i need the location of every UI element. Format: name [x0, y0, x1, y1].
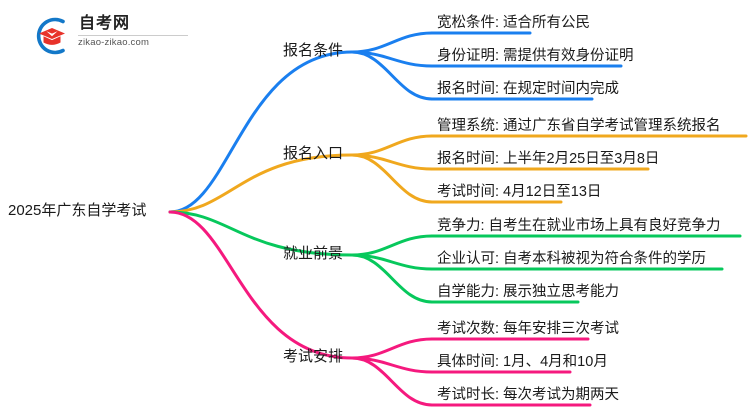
connector-curve [352, 136, 432, 155]
leaf-node-label[interactable]: 宽松条件: 适合所有公民 [437, 14, 590, 32]
connector-curve [170, 212, 352, 358]
connector-curve [170, 155, 352, 212]
branch-node-label-2[interactable]: 报名入口 [283, 145, 343, 163]
connector-curve [170, 52, 352, 212]
leaf-node-label[interactable]: 具体时间: 1月、4月和10月 [437, 353, 608, 371]
leaf-node-label[interactable]: 考试时长: 每次考试为期两天 [437, 386, 619, 404]
branch-node-label-3[interactable]: 就业前景 [283, 245, 343, 263]
leaf-node-label[interactable]: 管理系统: 通过广东省自学考试管理系统报名 [437, 117, 721, 135]
leaf-node-label[interactable]: 竞争力: 自考生在就业市场上具有良好竞争力 [437, 217, 721, 235]
leaf-node-label[interactable]: 企业认可: 自考本科被视为符合条件的学历 [437, 250, 706, 268]
connector-curve [352, 33, 432, 52]
branch-node-label-4[interactable]: 考试安排 [283, 348, 343, 366]
leaf-node-label[interactable]: 考试次数: 每年安排三次考试 [437, 320, 619, 338]
leaf-node-label[interactable]: 报名时间: 上半年2月25日至3月8日 [437, 150, 659, 168]
leaf-node-label[interactable]: 自学能力: 展示独立思考能力 [437, 283, 619, 301]
leaf-node-label[interactable]: 报名时间: 在规定时间内完成 [437, 80, 619, 98]
connector-curve [352, 339, 432, 358]
branch-node-label-1[interactable]: 报名条件 [283, 42, 343, 60]
connector-curve [352, 236, 432, 255]
leaf-node-label[interactable]: 考试时间: 4月12日至13日 [437, 183, 601, 201]
mindmap-canvas: 自考网 zikao-zikao.com 2025年广东自学考试 宽松条件: 适合… [0, 0, 750, 410]
root-node-label[interactable]: 2025年广东自学考试 [8, 202, 146, 220]
leaf-node-label[interactable]: 身份证明: 需提供有效身份证明 [437, 47, 634, 65]
